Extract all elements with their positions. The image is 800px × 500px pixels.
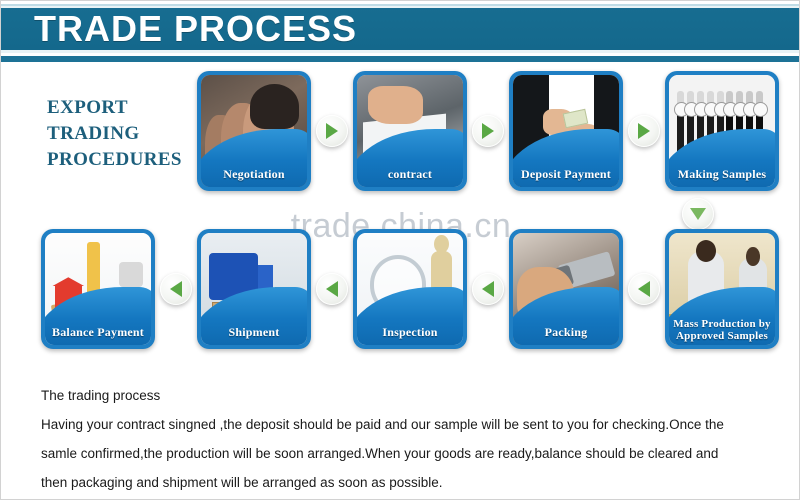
heading-line-1: EXPORT	[47, 95, 197, 121]
card-label-mass-production: Mass Production by Approved Samples	[669, 315, 775, 345]
process-card-balance-payment[interactable]: Balance Payment	[41, 229, 155, 349]
export-trading-procedures-heading: EXPORT TRADING PROCEDURES	[47, 95, 197, 173]
arrow-right-icon[interactable]	[316, 115, 348, 147]
card-label-negotiation: Negotiation	[201, 161, 307, 187]
card-inner: contract	[357, 75, 463, 187]
process-card-negotiation[interactable]: Negotiation	[197, 71, 311, 191]
heading-line-2: TRADING	[47, 121, 197, 147]
description-line-3: samle confirmed,the production will be s…	[41, 439, 767, 468]
process-card-packing[interactable]: Packing	[509, 229, 623, 349]
process-card-making-samples[interactable]: Making Samples	[665, 71, 779, 191]
card-inner: Balance Payment	[45, 233, 151, 345]
arrow-left-icon[interactable]	[316, 273, 348, 305]
card-inner: Deposit Payment	[513, 75, 619, 187]
page-title: TRADE PROCESS	[34, 10, 357, 48]
heading-line-3: PROCEDURES	[47, 147, 197, 173]
arrow-right-icon[interactable]	[472, 115, 504, 147]
arrow-down-icon[interactable]	[682, 198, 714, 230]
description-line-1: The trading process	[41, 381, 767, 410]
card-inner: Packing	[513, 233, 619, 345]
header-banner: TRADE PROCESS	[1, 4, 800, 66]
card-label-packing: Packing	[513, 319, 619, 345]
process-row-bottom: Balance Payment Shipment	[41, 229, 779, 349]
description-line-4: then packaging and shipment will be arra…	[41, 468, 767, 497]
arrow-left-icon[interactable]	[628, 273, 660, 305]
card-label-contract: contract	[357, 161, 463, 187]
card-label-deposit-payment: Deposit Payment	[513, 161, 619, 187]
card-label-making-samples: Making Samples	[669, 161, 775, 187]
card-inner: Negotiation	[201, 75, 307, 187]
process-row-top: Negotiation contract D	[197, 71, 779, 191]
card-label-shipment: Shipment	[201, 319, 307, 345]
trade-process-page: TRADE PROCESS EXPORT TRADING PROCEDURES …	[0, 0, 800, 500]
card-label-balance-payment: Balance Payment	[45, 319, 151, 345]
description-line-2: Having your contract singned ,the deposi…	[41, 410, 767, 439]
arrow-left-icon[interactable]	[160, 273, 192, 305]
process-card-mass-production[interactable]: Mass Production by Approved Samples	[665, 229, 779, 349]
process-card-shipment[interactable]: Shipment	[197, 229, 311, 349]
process-card-contract[interactable]: contract	[353, 71, 467, 191]
card-inner: Making Samples	[669, 75, 775, 187]
process-card-deposit-payment[interactable]: Deposit Payment	[509, 71, 623, 191]
card-label-inspection: Inspection	[357, 319, 463, 345]
arrow-right-icon[interactable]	[628, 115, 660, 147]
card-inner: Inspection	[357, 233, 463, 345]
process-card-inspection[interactable]: Inspection	[353, 229, 467, 349]
card-inner: Shipment	[201, 233, 307, 345]
arrow-left-icon[interactable]	[472, 273, 504, 305]
card-inner: Mass Production by Approved Samples	[669, 233, 775, 345]
description-text: The trading process Having your contract…	[41, 381, 767, 497]
